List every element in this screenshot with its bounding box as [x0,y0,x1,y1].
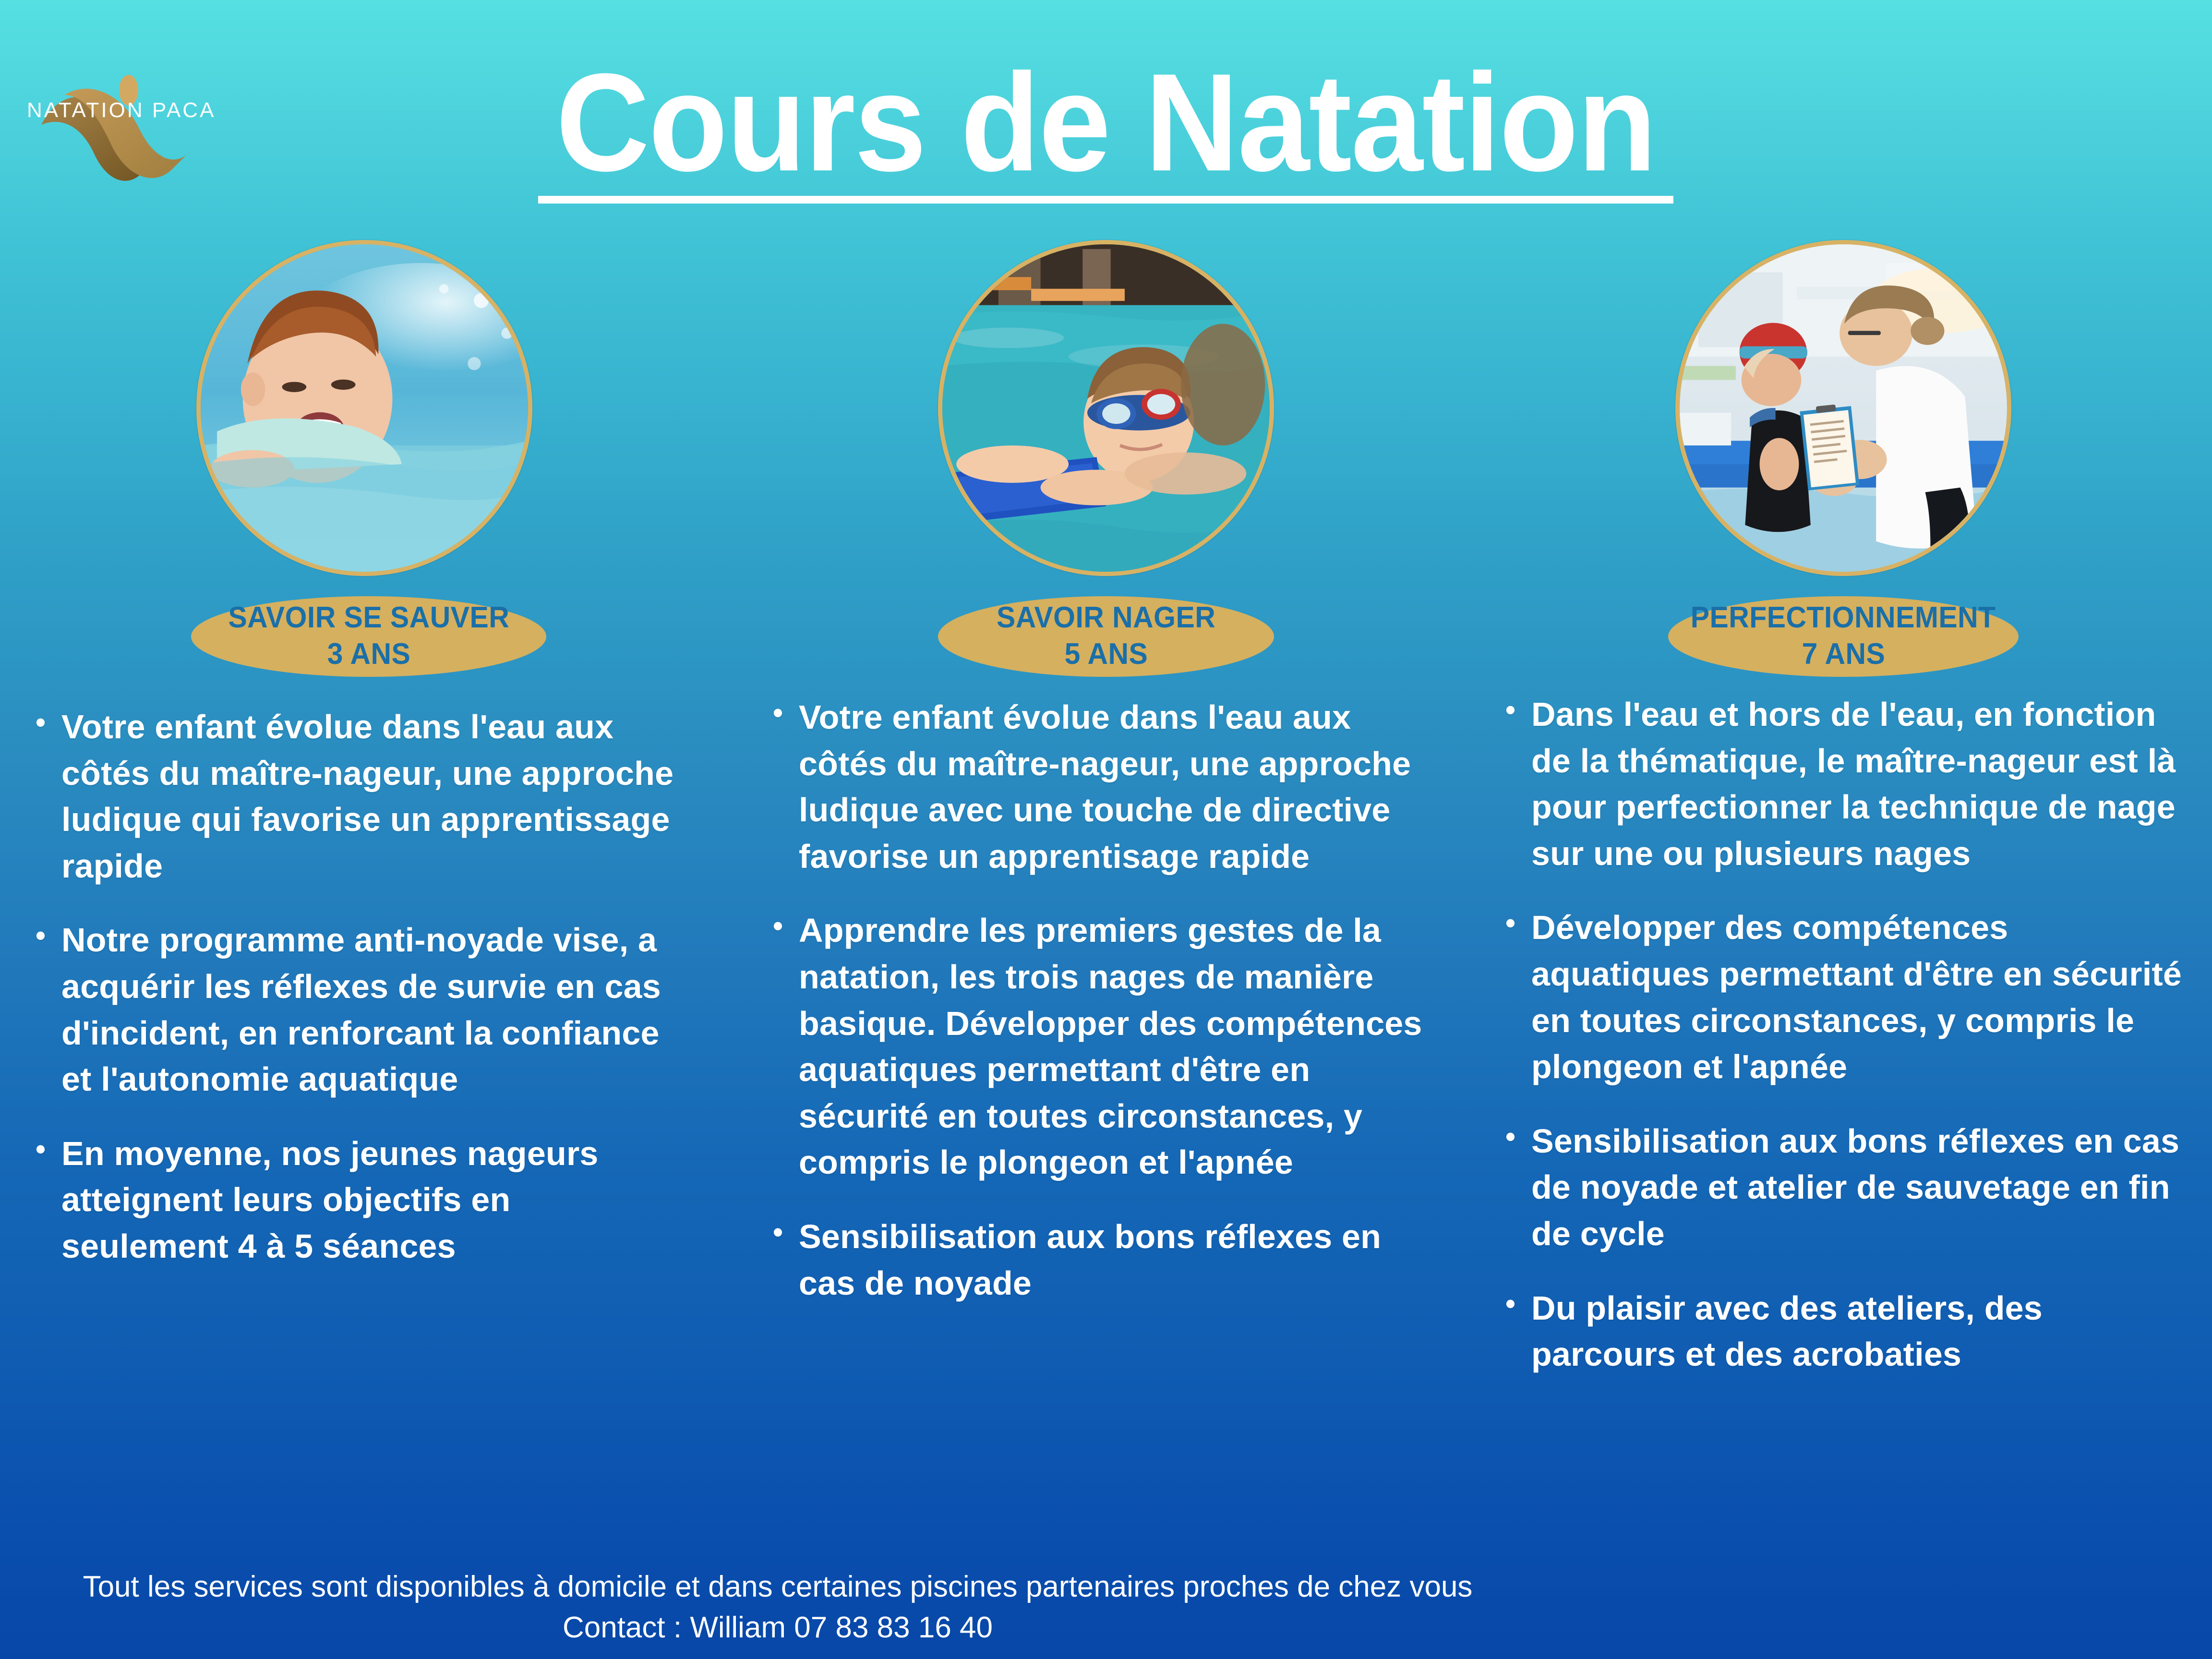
badge-age: 5 ANS [1064,637,1148,671]
badge-title: SAVOIR SE SAUVER [228,602,509,633]
course-photo-3 [1675,240,2011,576]
course-badge-1: SAVOIR SE SAUVER 3 ANS [191,596,546,677]
course-bullets-2: Votre enfant évolue dans l'eau aux côtés… [737,694,1475,1334]
badge-title: PERFECTIONNEMENT [1691,602,1996,633]
footer: Tout les services sont disponibles à dom… [0,1566,1555,1648]
list-item: Développer des compétences aquatiques pe… [1503,904,2183,1090]
list-item: Votre enfant évolue dans l'eau aux côtés… [34,704,680,889]
badge-age: 7 ANS [1802,637,1885,671]
course-badge-3: PERFECTIONNEMENT 7 ANS [1668,596,2019,677]
course-columns: SAVOIR SE SAUVER 3 ANS Votre enfant évol… [0,240,2212,1406]
course-photo-1 [196,240,532,576]
course-column-savoir-se-sauver: SAVOIR SE SAUVER 3 ANS Votre enfant évol… [0,240,737,1298]
list-item: Dans l'eau et hors de l'eau, en fonction… [1503,691,2183,877]
course-bullets-1: Votre enfant évolue dans l'eau aux côtés… [0,704,737,1298]
course-column-perfectionnement: PERFECTIONNEMENT 7 ANS Dans l'eau et hor… [1475,240,2212,1406]
boy-with-goggles-kickboard-image [942,244,1270,572]
badge-age: 3 ANS [327,637,410,671]
page-title: Cours de Natation [538,53,1673,204]
list-item: Sensibilisation aux bons réflexes en cas… [771,1214,1427,1306]
list-item: Du plaisir avec des ateliers, des parcou… [1503,1285,2183,1378]
list-item: Apprendre les premiers gestes de la nata… [771,907,1427,1186]
list-item: Votre enfant évolue dans l'eau aux côtés… [771,694,1427,879]
coach-with-young-swimmer-clipboard-image [1680,244,2007,572]
course-photo-2 [938,240,1274,576]
course-badge-2: SAVOIR NAGER 5 ANS [938,596,1274,677]
footer-contact-line: Contact : William 07 83 83 16 40 [0,1607,1555,1648]
child-swimming-smiling-image [201,244,528,572]
course-column-savoir-nager: SAVOIR NAGER 5 ANS Votre enfant évolue d… [737,240,1475,1334]
list-item: Notre programme anti-noyade vise, a acqu… [34,917,680,1102]
page-title-wrapper: Cours de Natation [0,53,2212,204]
footer-services-line: Tout les services sont disponibles à dom… [0,1566,1555,1608]
list-item: En moyenne, nos jeunes nageurs atteignen… [34,1130,680,1270]
list-item: Sensibilisation aux bons réflexes en cas… [1503,1118,2183,1257]
badge-title: SAVOIR NAGER [997,602,1215,633]
course-bullets-3: Dans l'eau et hors de l'eau, en fonction… [1475,691,2212,1406]
